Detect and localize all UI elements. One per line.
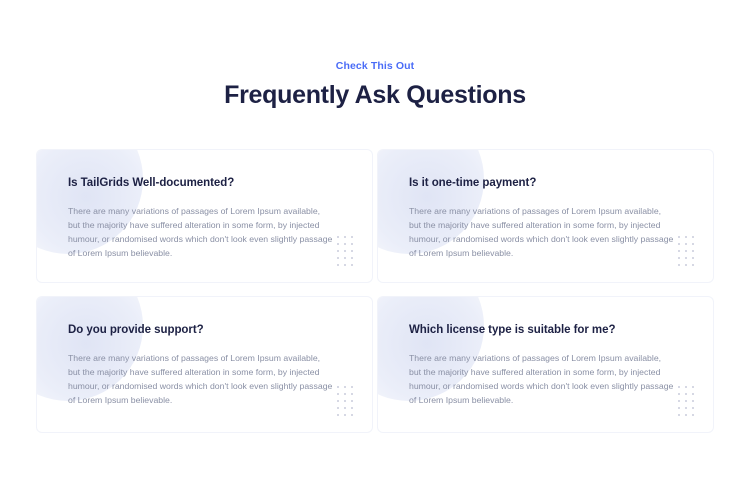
dot [351,264,353,266]
page-title: Frequently Ask Questions [0,80,750,111]
dot [692,386,694,388]
dot [337,400,339,402]
faq-answer: There are many variations of passages of… [68,351,333,407]
dot [351,250,353,252]
dot [678,264,680,266]
dot-grid-icon [337,236,358,271]
dot-grid-icon [337,386,358,421]
dot [344,264,346,266]
dot [344,250,346,252]
dot [692,264,694,266]
section-eyebrow: Check This Out [0,60,750,73]
dot [678,257,680,259]
dot [685,386,687,388]
dot [337,414,339,416]
dot [337,264,339,266]
faq-card[interactable]: Is it one-time payment? There are many v… [378,150,713,282]
dot [337,393,339,395]
dot [692,250,694,252]
dot [678,400,680,402]
faq-card-grid: Is TailGrids Well-documented? There are … [37,150,713,432]
dot [344,236,346,238]
dot [685,257,687,259]
dot [692,407,694,409]
dot [692,257,694,259]
dot [678,243,680,245]
faq-answer: There are many variations of passages of… [409,351,674,407]
dot [692,236,694,238]
dot [678,250,680,252]
dot [351,414,353,416]
faq-answer: There are many variations of passages of… [409,204,674,260]
dot [692,243,694,245]
dot [337,257,339,259]
dot [685,243,687,245]
dot [685,236,687,238]
dot [678,414,680,416]
faq-question: Is it one-time payment? [409,176,683,191]
faq-card[interactable]: Is TailGrids Well-documented? There are … [37,150,372,282]
dot [344,257,346,259]
dot [351,236,353,238]
dot [692,393,694,395]
dot [685,400,687,402]
faq-answer: There are many variations of passages of… [68,204,333,260]
dot [351,400,353,402]
dot [678,236,680,238]
dot [351,257,353,259]
dot [344,393,346,395]
faq-question: Which license type is suitable for me? [409,323,683,338]
dot [337,236,339,238]
dot [344,243,346,245]
faq-card[interactable]: Do you provide support? There are many v… [37,297,372,432]
dot [685,414,687,416]
dot [351,407,353,409]
dot [351,393,353,395]
dot [678,407,680,409]
dot [337,243,339,245]
dot [344,414,346,416]
dot [337,250,339,252]
dot [351,386,353,388]
dot [678,386,680,388]
dot-grid-icon [678,236,699,271]
faq-header: Check This Out Frequently Ask Questions [0,0,750,111]
dot-grid-icon [678,386,699,421]
faq-question: Do you provide support? [68,323,342,338]
dot [692,400,694,402]
dot [351,243,353,245]
dot [344,407,346,409]
dot [337,407,339,409]
dot [685,393,687,395]
dot [344,386,346,388]
faq-card[interactable]: Which license type is suitable for me? T… [378,297,713,432]
dot [685,250,687,252]
dot [692,414,694,416]
faq-question: Is TailGrids Well-documented? [68,176,342,191]
dot [678,393,680,395]
dot [344,400,346,402]
dot [685,264,687,266]
dot [685,407,687,409]
dot [337,386,339,388]
faq-page: Check This Out Frequently Ask Questions … [0,0,750,492]
